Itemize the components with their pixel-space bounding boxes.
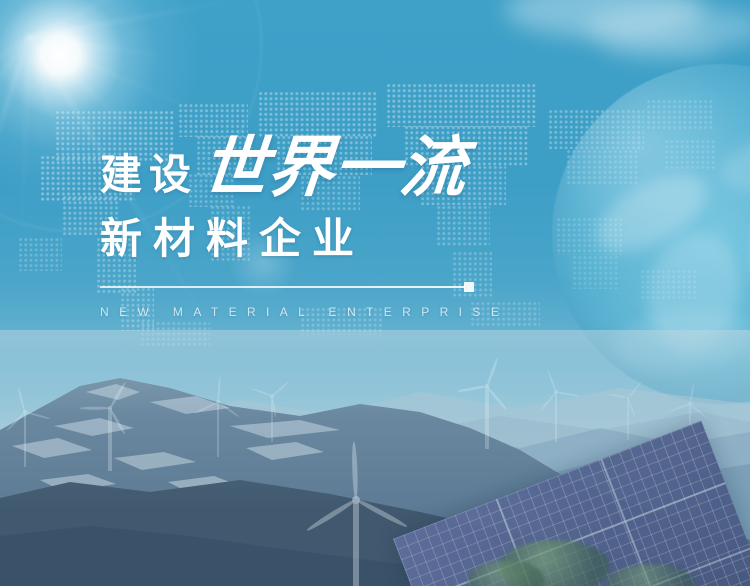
headline-subtitle: NEW MATERIAL ENTERPRISE <box>100 305 520 319</box>
headline-line-2: 新材料企业 <box>100 218 520 260</box>
headline-kicker: 建设 <box>100 154 198 200</box>
turbine-mast <box>24 412 27 467</box>
headline-line-1: 建设 世界一流 <box>100 128 520 200</box>
cloud-wisp <box>600 34 720 60</box>
map-dot-cluster <box>386 83 536 127</box>
turbine-mast <box>485 386 488 449</box>
headline-divider <box>100 286 465 288</box>
turbine-hub <box>688 402 691 405</box>
hero-banner: 建设 世界一流 新材料企业 NEW MATERIAL ENTERPRISE <box>0 0 750 586</box>
turbine-hub <box>554 390 557 393</box>
headline-block: 建设 世界一流 新材料企业 NEW MATERIAL ENTERPRISE <box>100 128 520 319</box>
turbine-mast <box>353 500 359 586</box>
map-dot-cluster <box>18 237 62 271</box>
turbine-mast <box>108 408 111 471</box>
headline-emphasis: 世界一流 <box>199 134 469 200</box>
globe-landmass <box>716 127 750 201</box>
divider-cap <box>464 282 474 292</box>
turbine-hub <box>270 394 273 397</box>
turbine-hub <box>23 410 27 414</box>
turbine-mast <box>217 402 220 457</box>
turbine-hub <box>216 400 220 404</box>
turbine-mast <box>555 392 558 442</box>
turbine-blade <box>80 407 110 410</box>
